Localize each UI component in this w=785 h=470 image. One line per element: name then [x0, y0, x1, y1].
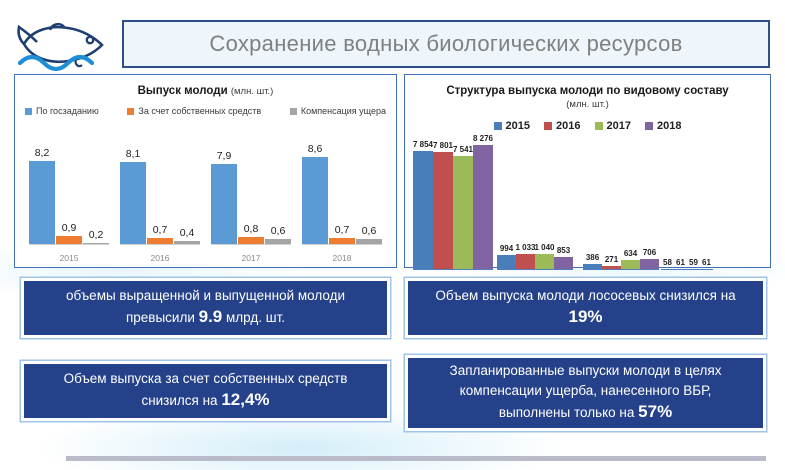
bottom-divider-strip [66, 456, 766, 461]
left-bar-label: 7,9 [217, 150, 232, 162]
fish-waves-logo-icon [16, 18, 114, 72]
right-bar-label: 59 [689, 258, 698, 267]
right-bar-label: 58 [663, 258, 672, 267]
page-title-bar: Сохранение водных биологических ресурсов [122, 20, 770, 68]
right-bar-g1-2016: 7 801 [433, 152, 453, 270]
left-bar-label: 0,2 [89, 229, 104, 241]
callout-4-line1: Запланированные выпуски молоди в целях [450, 363, 722, 378]
right-bar-label: 61 [676, 258, 685, 267]
right-bar-label: 634 [624, 249, 637, 258]
left-axis-segment [29, 244, 109, 245]
right-axis-segment [583, 269, 659, 271]
callout-4-value: 57% [638, 402, 672, 421]
callout-4-line3-pre: выполнены только на [499, 405, 638, 420]
callout-planned-compensation: Запланированные выпуски молоди в целях к… [408, 358, 763, 428]
page-title: Сохранение водных биологических ресурсов [209, 31, 682, 57]
legend-item-gosszadanie: По госзаданию [25, 106, 99, 116]
right-bar-label: 386 [586, 253, 599, 262]
callout-2-line1: Объем выпуска молоди лососевых снизился … [435, 288, 735, 303]
legend-swatch-orange [127, 108, 134, 115]
right-axis-segment [497, 269, 573, 271]
legend-label-gosszadanie: По госзаданию [36, 106, 99, 116]
right-bar-label: 7 801 [433, 141, 453, 150]
left-bar-label: 8,1 [126, 148, 141, 160]
left-bar-2015-s1: 8,2 [29, 161, 55, 245]
left-bar-2017-s1: 7,9 [211, 164, 237, 245]
right-bar-label: 1 033 [515, 243, 535, 252]
left-chart-legend: По госзаданию За счет собственных средст… [15, 106, 396, 116]
callout-1-line1: объемы выращенной и выпущенной молоди [66, 288, 345, 303]
right-bar-label: 7 541 [453, 145, 473, 154]
callout-3-value: 12,4% [221, 390, 269, 409]
left-axis-year-2017: 2017 [211, 253, 291, 263]
left-chart-plot: 8,20,90,220158,10,70,420167,90,80,620178… [15, 201, 396, 267]
callout-4-line2: компенсации ущерба, нанесенного ВБР, [460, 383, 712, 398]
callout-2-value: 19% [568, 307, 602, 326]
callout-3-line2-pre: снизился на [141, 393, 221, 408]
right-axis-segment [413, 269, 493, 271]
left-bar-label: 8,2 [35, 147, 50, 159]
legend-label-own-funds: За счет собственных средств [138, 106, 261, 116]
callout-3-line1: Объем выпуска за счет собственных средст… [64, 371, 348, 386]
right-axis-segment [661, 269, 713, 271]
callout-1-line2-post: млрд. шт. [222, 310, 285, 325]
chart-panel-release-volume: Выпуск молоди (млн. шт.) По госзаданию З… [14, 74, 397, 268]
left-chart-title-text: Выпуск молоди [138, 85, 228, 97]
left-axis-year-2018: 2018 [302, 253, 382, 263]
left-chart-title: Выпуск молоди (млн. шт.) [15, 84, 396, 98]
right-bar-label: 271 [605, 255, 618, 264]
legend-item-compensation: Компенсация ущера [290, 106, 386, 116]
legend-item-own-funds: За счет собственных средств [127, 106, 261, 116]
left-bar-label: 0,7 [335, 224, 350, 236]
right-bar-label: 8 276 [473, 134, 493, 143]
left-axis-segment [302, 244, 382, 245]
left-axis-year-2015: 2015 [29, 253, 109, 263]
callout-own-funds-decline: Объем выпуска за счет собственных средст… [24, 364, 387, 418]
left-bar-label: 8,6 [308, 143, 323, 155]
top-text-fragment [82, 0, 302, 10]
left-bar-label: 0,9 [62, 222, 77, 234]
chart-panel-species-structure: Структура выпуска молоди по видовому сос… [404, 74, 771, 268]
legend-swatch-blue [25, 108, 32, 115]
left-axis-segment [211, 244, 291, 245]
left-chart-title-unit: (млн. шт.) [231, 86, 274, 97]
right-bar-label: 1 040 [534, 243, 554, 252]
left-axis-segment [120, 244, 200, 245]
left-bar-label: 0,6 [271, 225, 286, 237]
left-bar-2016-s1: 8,1 [120, 162, 146, 245]
callout-1-value: 9.9 [199, 307, 223, 326]
right-bar-label: 7 854 [413, 140, 433, 149]
left-bar-2018-s1: 8,6 [302, 157, 328, 245]
callout-total-volume: объемы выращенной и выпущенной молоди пр… [24, 281, 387, 335]
legend-swatch-grey [290, 108, 297, 115]
callout-1-line2-pre: превысили [126, 310, 199, 325]
right-bar-label: 994 [500, 244, 513, 253]
callout-salmon-decline: Объем выпуска молоди лососевых снизился … [408, 281, 763, 335]
right-bar-g1-2017: 7 541 [453, 156, 473, 270]
right-chart-plot: 7 8547 8017 5418 276карповые, окуневые, … [405, 95, 770, 310]
left-bar-label: 0,4 [180, 227, 195, 239]
right-bar-label: 61 [702, 258, 711, 267]
left-bar-label: 0,6 [362, 225, 377, 237]
right-bar-label: 706 [643, 248, 656, 257]
left-axis-year-2016: 2016 [120, 253, 200, 263]
left-bar-label: 0,8 [244, 223, 259, 235]
right-bar-label: 853 [557, 246, 570, 255]
right-bar-g1-2015: 7 854 [413, 151, 433, 270]
right-bar-g1-2018: 8 276 [473, 145, 493, 270]
legend-label-compensation: Компенсация ущера [301, 106, 386, 116]
left-bar-label: 0,7 [153, 224, 168, 236]
